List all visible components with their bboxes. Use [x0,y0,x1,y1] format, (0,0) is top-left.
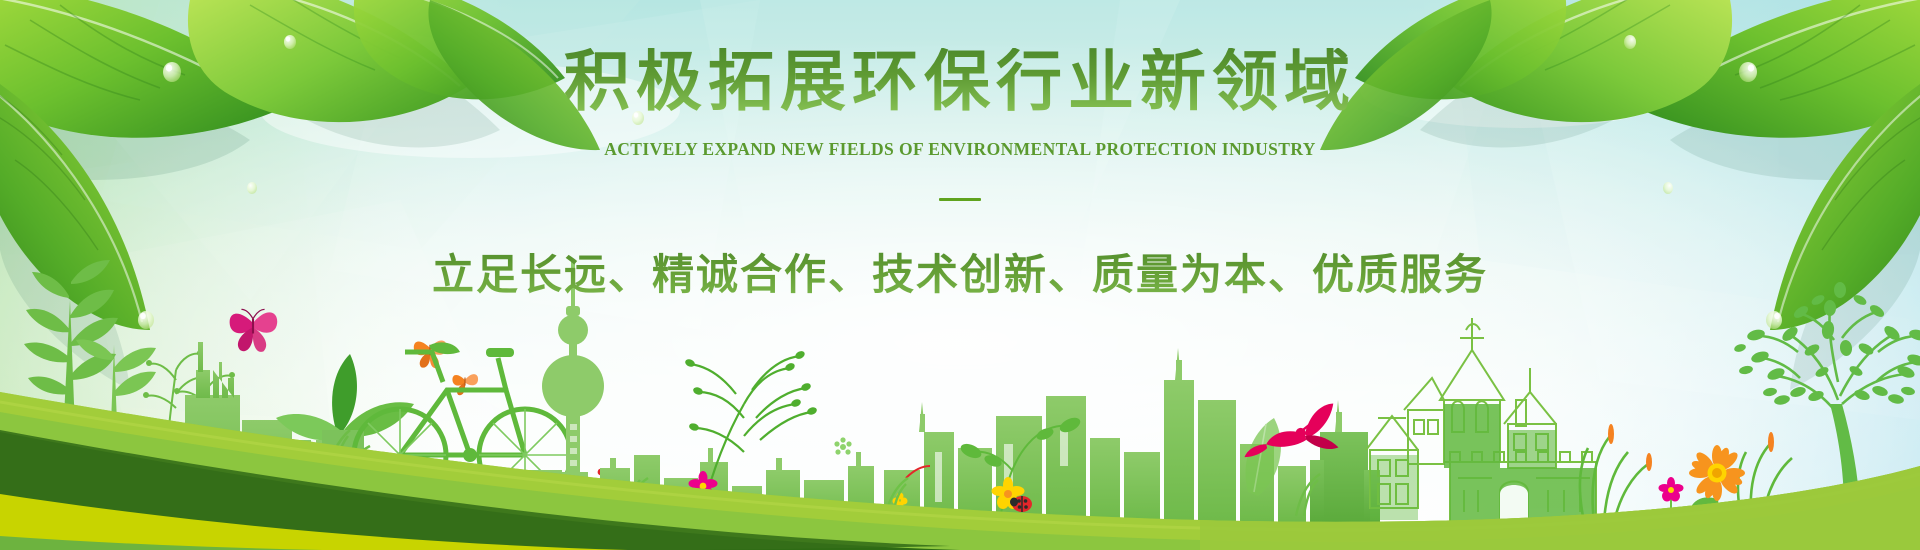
ribbon-hill-right [1200,466,1920,550]
eco-banner: 积极拓展环保行业新领域 ACTIVELY EXPAND NEW FIELDS O… [0,0,1920,550]
ribbon-waves [0,0,1920,550]
